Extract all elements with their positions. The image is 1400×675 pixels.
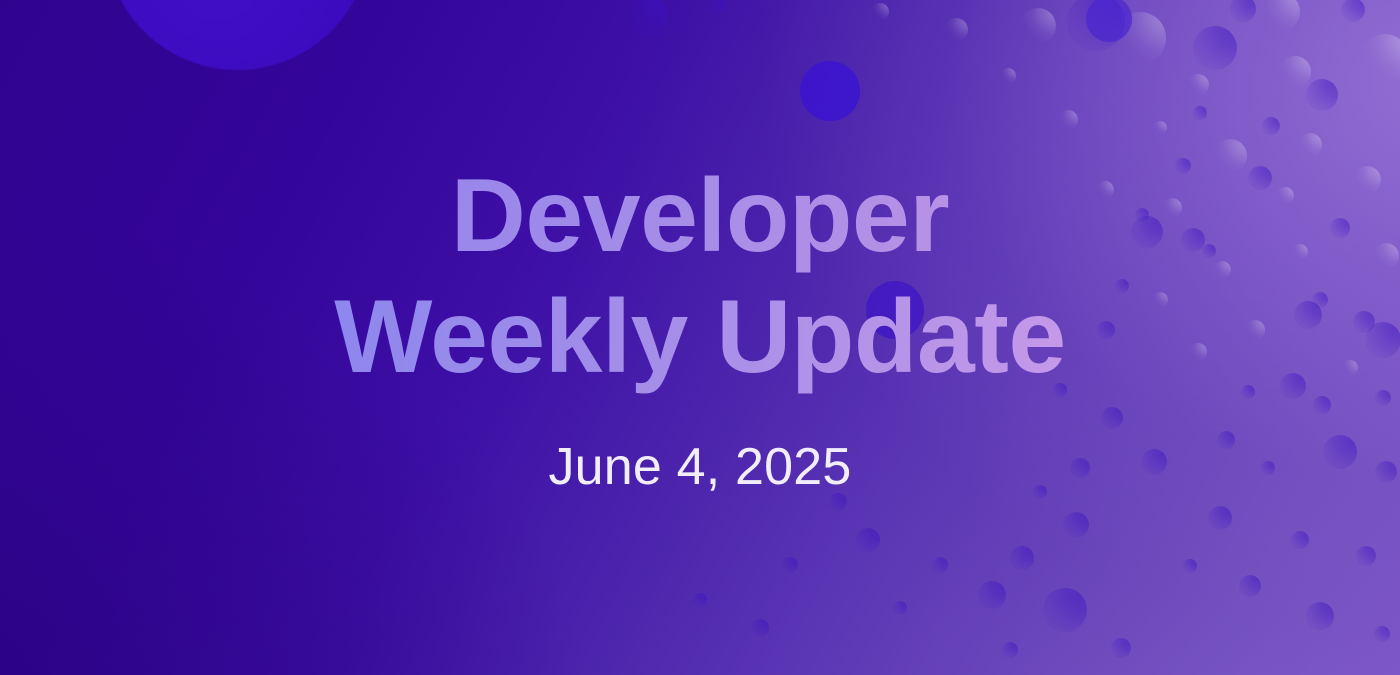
slide-title: Developer Weekly Update <box>0 156 1400 397</box>
slide-content: Developer Weekly Update June 4, 2025 <box>0 0 1400 675</box>
title-line-2: Weekly Update <box>0 277 1400 398</box>
slide-date: June 4, 2025 <box>548 437 851 497</box>
title-slide: Developer Weekly Update June 4, 2025 <box>0 0 1400 675</box>
title-line-1: Developer <box>0 156 1400 277</box>
